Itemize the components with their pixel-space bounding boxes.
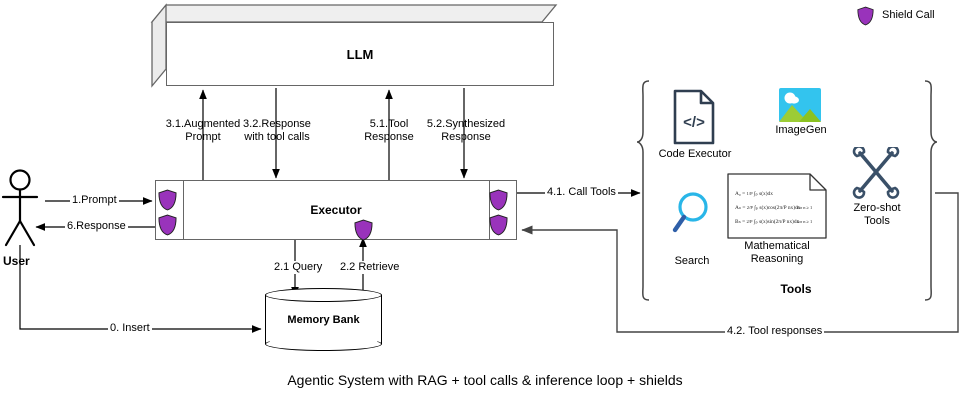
svg-text:for n ≥ 1: for n ≥ 1 [797,205,812,210]
shield-icon-executor-output-bottom[interactable] [158,214,177,236]
edge-label-tool-responses: 4.2. Tool responses [725,325,824,338]
diagram-caption: Agentic System with RAG + tool calls & i… [0,372,970,388]
tools-group-label: Tools [716,282,876,296]
svg-text:Aₙ = 2/P ∫ₚ s(x)cos(2π/P nx)dx: Aₙ = 2/P ∫ₚ s(x)cos(2π/P nx)dx [735,204,801,211]
shield-icon-executor-memory[interactable] [354,219,373,241]
tool-label-math-line1: Mathematical [722,240,832,253]
svg-text:</>: </> [683,114,705,131]
code-document-icon[interactable]: </> [672,88,716,146]
edge-label-synthesized-line1: 5.2.Synthesized [411,118,521,131]
tool-label-imagegen: ImageGen [755,124,847,137]
memory-bank-node[interactable]: Memory Bank [265,288,382,351]
edge-label-response: 6.Response [65,220,128,233]
edge-label-prompt: 1.Prompt [70,194,119,207]
shield-icon-executor-tool-call[interactable] [489,189,508,211]
formula-document-icon[interactable]: A₀ = 1/P ∫ₚ s(x)dx Aₙ = 2/P ∫ₚ s(x)cos(2… [727,173,827,239]
edge-label-response-tool-calls-line1: 3.2.Response [222,118,332,131]
edge-label-synthesized-line2: Response [411,131,521,144]
image-icon[interactable] [779,88,821,122]
shield-icon-executor-input-top[interactable] [158,189,177,211]
executor-label: Executor [156,181,516,239]
shield-icon-legend [857,6,874,26]
svg-text:Bₙ = 2/P ∫ₚ s(x)sin(2π/P nx)dx: Bₙ = 2/P ∫ₚ s(x)sin(2π/P nx)dx [735,218,800,225]
llm-label: LLM [166,22,554,86]
edge-label-response-tool-calls-line2: with tool calls [222,131,332,144]
svg-text:for n ≥ 1: for n ≥ 1 [797,219,812,224]
tool-label-code-executor: Code Executor [646,148,744,161]
tool-label-math-line2: Reasoning [722,253,832,266]
shield-icon-executor-tool-response[interactable] [489,214,508,236]
tool-label-zeroshot-line1: Zero-shot [836,202,918,215]
legend-label-shield-call: Shield Call [882,9,935,22]
executor-node[interactable]: Executor [155,180,517,240]
edge-label-call-tools: 4.1. Call Tools [545,186,618,199]
tool-label-zeroshot-line2: Tools [836,215,918,228]
user-label: User [3,254,30,268]
edge-label-insert: 0. Insert [108,322,152,335]
diagram-canvas: LLM Executor Memory Bank User 1.Prompt 6… [0,0,970,411]
edge-label-retrieve: 2.2 Retrieve [338,261,401,274]
llm-node[interactable]: LLM [152,5,556,87]
svg-text:A₀ = 1/P ∫ₚ s(x)dx: A₀ = 1/P ∫ₚ s(x)dx [735,190,773,197]
crossed-wrenches-icon[interactable] [851,147,901,199]
edge-label-query: 2.1 Query [272,261,324,274]
magnifier-icon[interactable] [672,190,712,234]
memory-bank-label: Memory Bank [265,288,382,351]
